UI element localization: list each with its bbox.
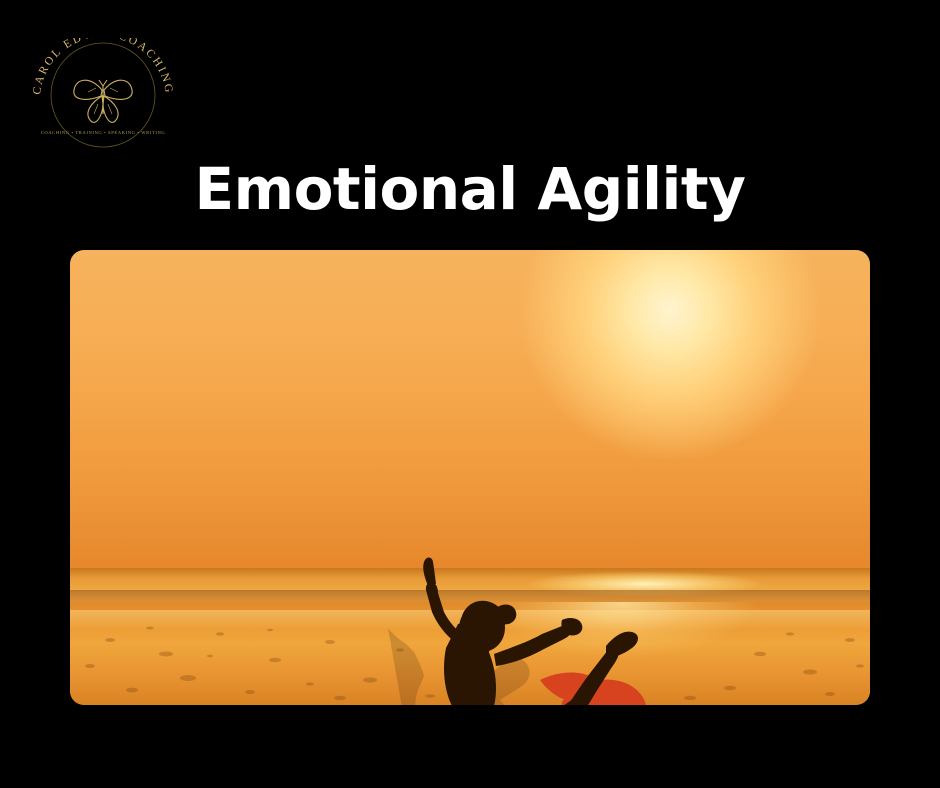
dancer-silhouette xyxy=(70,250,870,705)
poster-canvas: CAROL EDWIN COACHING COACHING • TRAINING… xyxy=(0,0,940,788)
logo-subtitle: COACHING • TRAINING • SPEAKING • WRITING xyxy=(28,130,178,135)
photo-frame xyxy=(70,250,870,705)
page-title: Emotional Agility xyxy=(0,155,940,223)
logo: CAROL EDWIN COACHING COACHING • TRAINING… xyxy=(28,38,178,153)
logo-ring-and-butterfly-icon xyxy=(28,38,178,153)
